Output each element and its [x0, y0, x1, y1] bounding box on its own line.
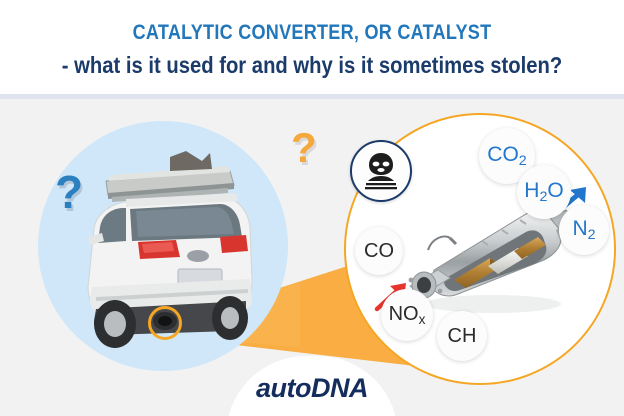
bubble-n2-sub: 2 — [588, 227, 596, 243]
logo-part1: auto — [256, 373, 311, 403]
bubble-nox-text: NO — [389, 303, 419, 325]
bubble-nox: NOx — [381, 289, 433, 341]
infographic-root: CATALYTIC CONVERTER, OR CATALYST - what … — [0, 0, 624, 416]
bubble-co2-sub: 2 — [519, 153, 527, 169]
bubble-ch-text: CH — [448, 325, 477, 347]
question-mark-blue: ? — [55, 169, 83, 215]
page-title-line2: - what is it used for and why is it some… — [37, 52, 586, 79]
illustration-stage: ? ? — [0, 99, 624, 416]
bubble-ch: CH — [437, 311, 487, 361]
thief-icon — [364, 152, 398, 190]
question-mark-orange: ? — [291, 127, 317, 169]
bubble-co2-text: CO — [487, 143, 519, 166]
bubble-h2o: H2O — [517, 165, 571, 219]
header: CATALYTIC CONVERTER, OR CATALYST - what … — [0, 0, 624, 97]
logo-part2: DNA — [311, 373, 368, 403]
bubble-co: CO — [355, 227, 403, 275]
bubble-n2-text: N — [572, 217, 587, 240]
bubble-n2: N2 — [559, 205, 609, 255]
bubble-h2o-text: H — [524, 179, 539, 202]
bubble-co-text: CO — [364, 240, 394, 262]
bubble-nox-sub: x — [419, 312, 426, 327]
thief-badge[interactable] — [350, 140, 412, 202]
exhaust-highlight-ring — [148, 306, 182, 340]
autodna-logo[interactable]: autoDNA — [226, 373, 398, 404]
page-title-line1: CATALYTIC CONVERTER, OR CATALYST — [44, 21, 581, 45]
bubble-h2o-tail: O — [547, 179, 563, 202]
